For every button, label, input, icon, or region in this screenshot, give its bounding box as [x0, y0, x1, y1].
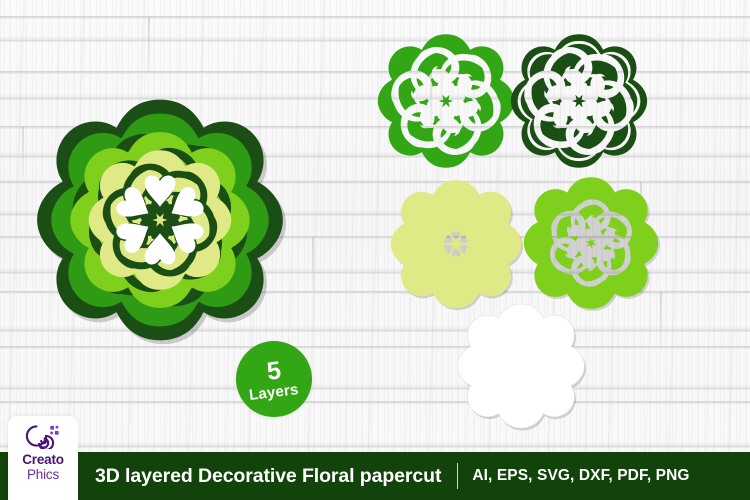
layer-white-base[interactable] [455, 300, 587, 432]
layer-dark-green-filigree[interactable] [508, 30, 650, 172]
file-formats-list: AI, EPS, SVG, DXF, PDF, PNG [472, 467, 689, 485]
assembled-layered-mandala[interactable] [32, 92, 288, 348]
plank-joint [148, 17, 150, 71]
logo-dots [50, 426, 58, 435]
banner-divider [457, 463, 458, 489]
plank-joint [312, 237, 314, 291]
layer-count-number: 5 [265, 358, 282, 385]
plank-joint [22, 127, 24, 181]
plank-seam [0, 401, 750, 404]
bottom-banner: 3D layered Decorative Floral papercut AI… [0, 452, 750, 500]
purple-spiral-icon [23, 423, 63, 449]
brand-name-line1: Creato [22, 453, 64, 467]
product-title: 3D layered Decorative Floral papercut [95, 465, 441, 488]
layer-bright-green[interactable] [521, 173, 661, 313]
brand-name-line2: Phics [27, 467, 59, 482]
plank-seam [0, 16, 750, 19]
layer-mid-green-filigree[interactable] [375, 30, 517, 172]
layer-count-badge[interactable]: 5 Layers [236, 341, 312, 417]
layer-pale-yellow-green [88, 150, 231, 290]
layer-count-label: Layers [248, 382, 299, 403]
brand-logo-card[interactable]: Creato Phics [8, 416, 78, 500]
layer-pale-yellow-green[interactable] [388, 176, 524, 312]
design-preview-canvas: 5 Layers 3D layered Decorative Floral pa… [0, 0, 750, 500]
